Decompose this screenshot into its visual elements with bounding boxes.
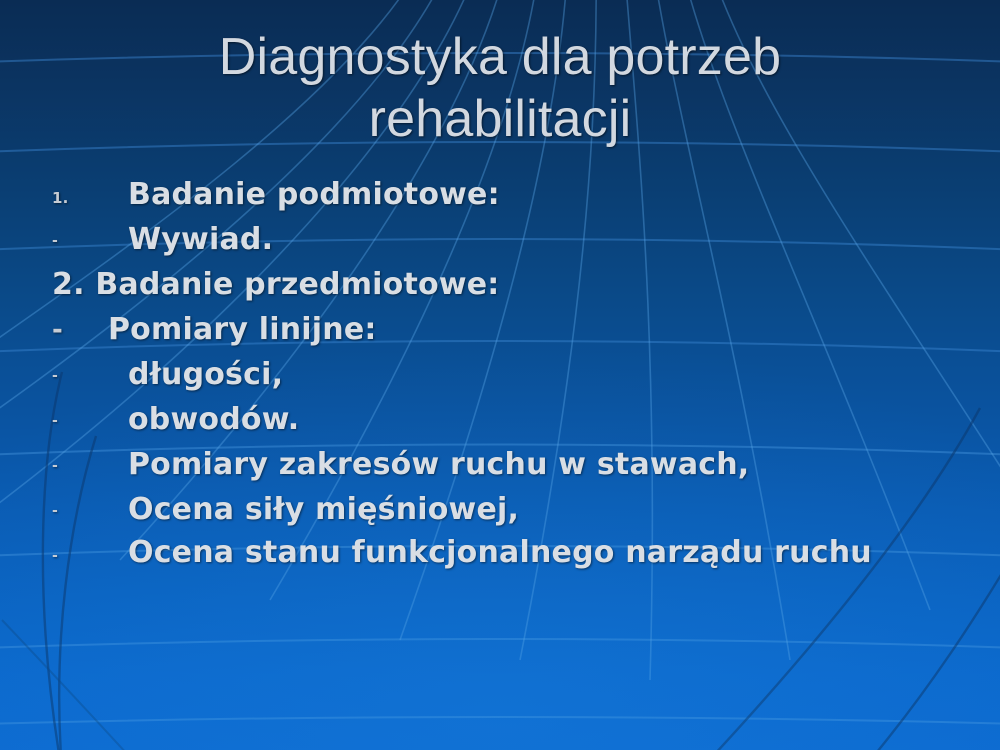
list-marker: - [52, 397, 58, 445]
list-item-text: Pomiary zakresów ruchu w stawach, [128, 442, 749, 487]
list-item: - obwodów. [52, 397, 970, 442]
list-marker: - [52, 307, 63, 353]
list-item: - długości, [52, 352, 970, 397]
slide-title: Diagnostyka dla potrzeb rehabilitacji [60, 26, 940, 150]
list-item: 1. Badanie podmiotowe: [52, 172, 970, 217]
list-marker: - [52, 532, 58, 580]
list-item-text: Pomiary linijne: [108, 307, 377, 352]
list-marker: - [52, 217, 58, 265]
list-item-text: długości, [128, 352, 283, 397]
list-item: - Wywiad. [52, 217, 970, 262]
title-line-1: Diagnostyka dla potrzeb [60, 26, 940, 88]
list-item-text: Ocena siły mięśniowej, [128, 487, 519, 532]
list-item: - Pomiary zakresów ruchu w stawach, [52, 442, 970, 487]
list-item-text: obwodów. [128, 397, 299, 442]
list-item: 2. Badanie przedmiotowe: [52, 262, 970, 307]
list-item-text: 2. Badanie przedmiotowe: [52, 262, 500, 307]
list-item: - Ocena siły mięśniowej, [52, 487, 970, 532]
list-item-text: Badanie podmiotowe: [128, 172, 500, 217]
slide-body-list: 1. Badanie podmiotowe: - Wywiad. 2. Bada… [52, 172, 970, 573]
title-line-2: rehabilitacji [60, 88, 940, 150]
list-item-text: Ocena stanu funkcjonalnego narządu ruchu [128, 532, 918, 573]
list-item-text: Wywiad. [128, 217, 273, 262]
presentation-slide: Diagnostyka dla potrzeb rehabilitacji 1.… [0, 0, 1000, 750]
list-marker: - [52, 442, 58, 490]
list-item: - Ocena stanu funkcjonalnego narządu ruc… [52, 532, 970, 573]
list-marker: - [52, 352, 58, 400]
list-item: - Pomiary linijne: [52, 307, 970, 352]
list-marker: - [52, 487, 58, 535]
